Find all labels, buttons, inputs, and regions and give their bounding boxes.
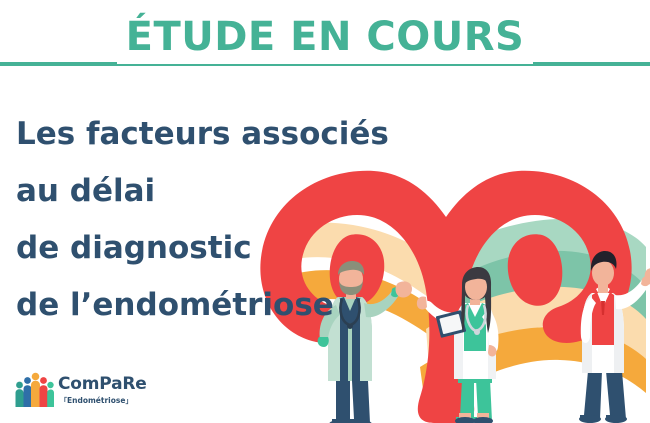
header-band: ÉTUDE EN COURS	[0, 0, 650, 78]
quote-open: 「	[60, 397, 67, 405]
page-eyebrow-label: ÉTUDE EN COURS	[117, 10, 534, 64]
logo-head-5	[47, 382, 53, 388]
logo-head-2	[24, 377, 31, 384]
logo-body-2	[24, 385, 32, 407]
page-eyebrow: ÉTUDE EN COURS	[0, 10, 650, 64]
compare-logo-mark-icon	[14, 371, 54, 411]
poster-canvas: ÉTUDE EN COURS Les facteurs associés au …	[0, 0, 650, 423]
compare-logo-text: ComPaRe 「Endométriose」	[58, 375, 178, 407]
logo-head-1	[16, 382, 23, 389]
logo-body-3	[31, 381, 40, 407]
page-title-line-4: de l’endométriose	[16, 277, 376, 334]
logo-head-4	[40, 377, 47, 384]
page-title-line-3: de diagnostic	[16, 220, 376, 277]
compare-logo[interactable]: ComPaRe 「Endométriose」	[14, 371, 184, 415]
logo-body-5	[47, 390, 54, 408]
logo-head-3	[32, 373, 40, 381]
quote-close: 」	[125, 397, 132, 405]
page-title-line-1: Les facteurs associés	[16, 106, 376, 163]
compare-logo-subtitle: 「Endométriose」	[58, 395, 178, 407]
page-title: Les facteurs associés au délai de diagno…	[16, 106, 376, 334]
page-title-line-2: au délai	[16, 163, 376, 220]
logo-body-1	[16, 389, 24, 407]
compare-logo-subtitle-label: Endométriose	[67, 396, 125, 405]
logo-body-4	[40, 385, 48, 407]
compare-logo-name: ComPaRe	[58, 375, 178, 393]
